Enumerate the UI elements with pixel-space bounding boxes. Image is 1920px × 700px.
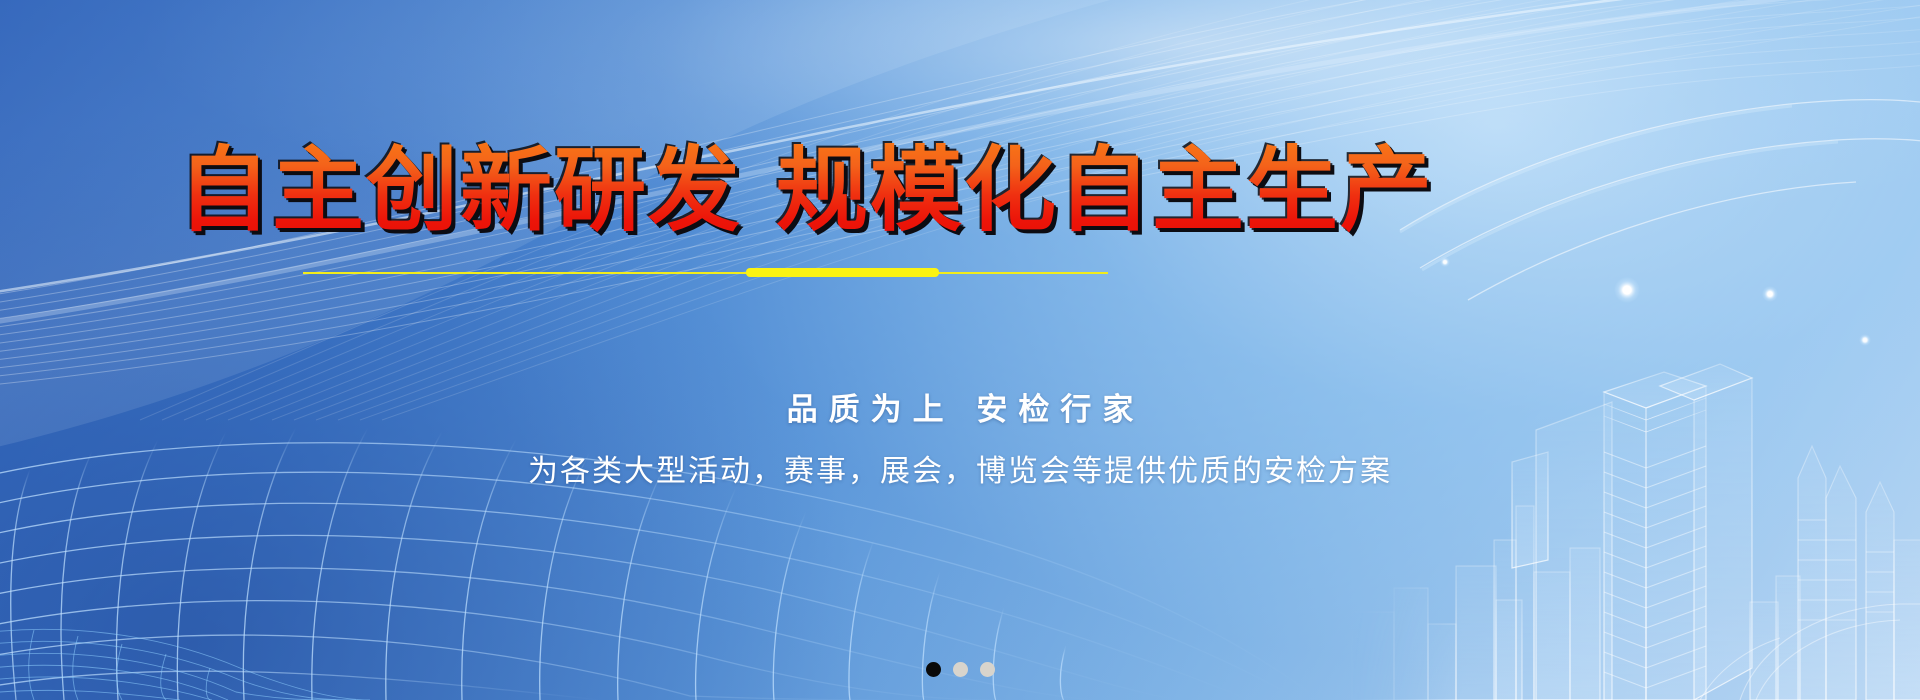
page-title: 自主创新研发 规模化自主生产 (178, 138, 1434, 244)
subtitle-block: 品质为上 安检行家 为各类大型活动，赛事，展会，博览会等提供优质的安检方案 (0, 390, 1920, 491)
carousel-pagination[interactable] (0, 662, 1920, 677)
subtitle-secondary: 为各类大型活动，赛事，展会，博览会等提供优质的安检方案 (0, 452, 1920, 491)
hero-banner: 自主创新研发 规模化自主生产 品质为上 安检行家 为各类大型活动，赛事，展会，博… (0, 0, 1920, 700)
subtitle-primary: 品质为上 安检行家 (0, 390, 1920, 430)
yellow-divider (303, 271, 1108, 275)
divider-hairline (303, 272, 1108, 274)
divider-accent-slab (746, 268, 939, 277)
carousel-dot-3[interactable] (980, 662, 995, 677)
carousel-dot-1[interactable] (926, 662, 941, 677)
carousel-dot-2[interactable] (953, 662, 968, 677)
